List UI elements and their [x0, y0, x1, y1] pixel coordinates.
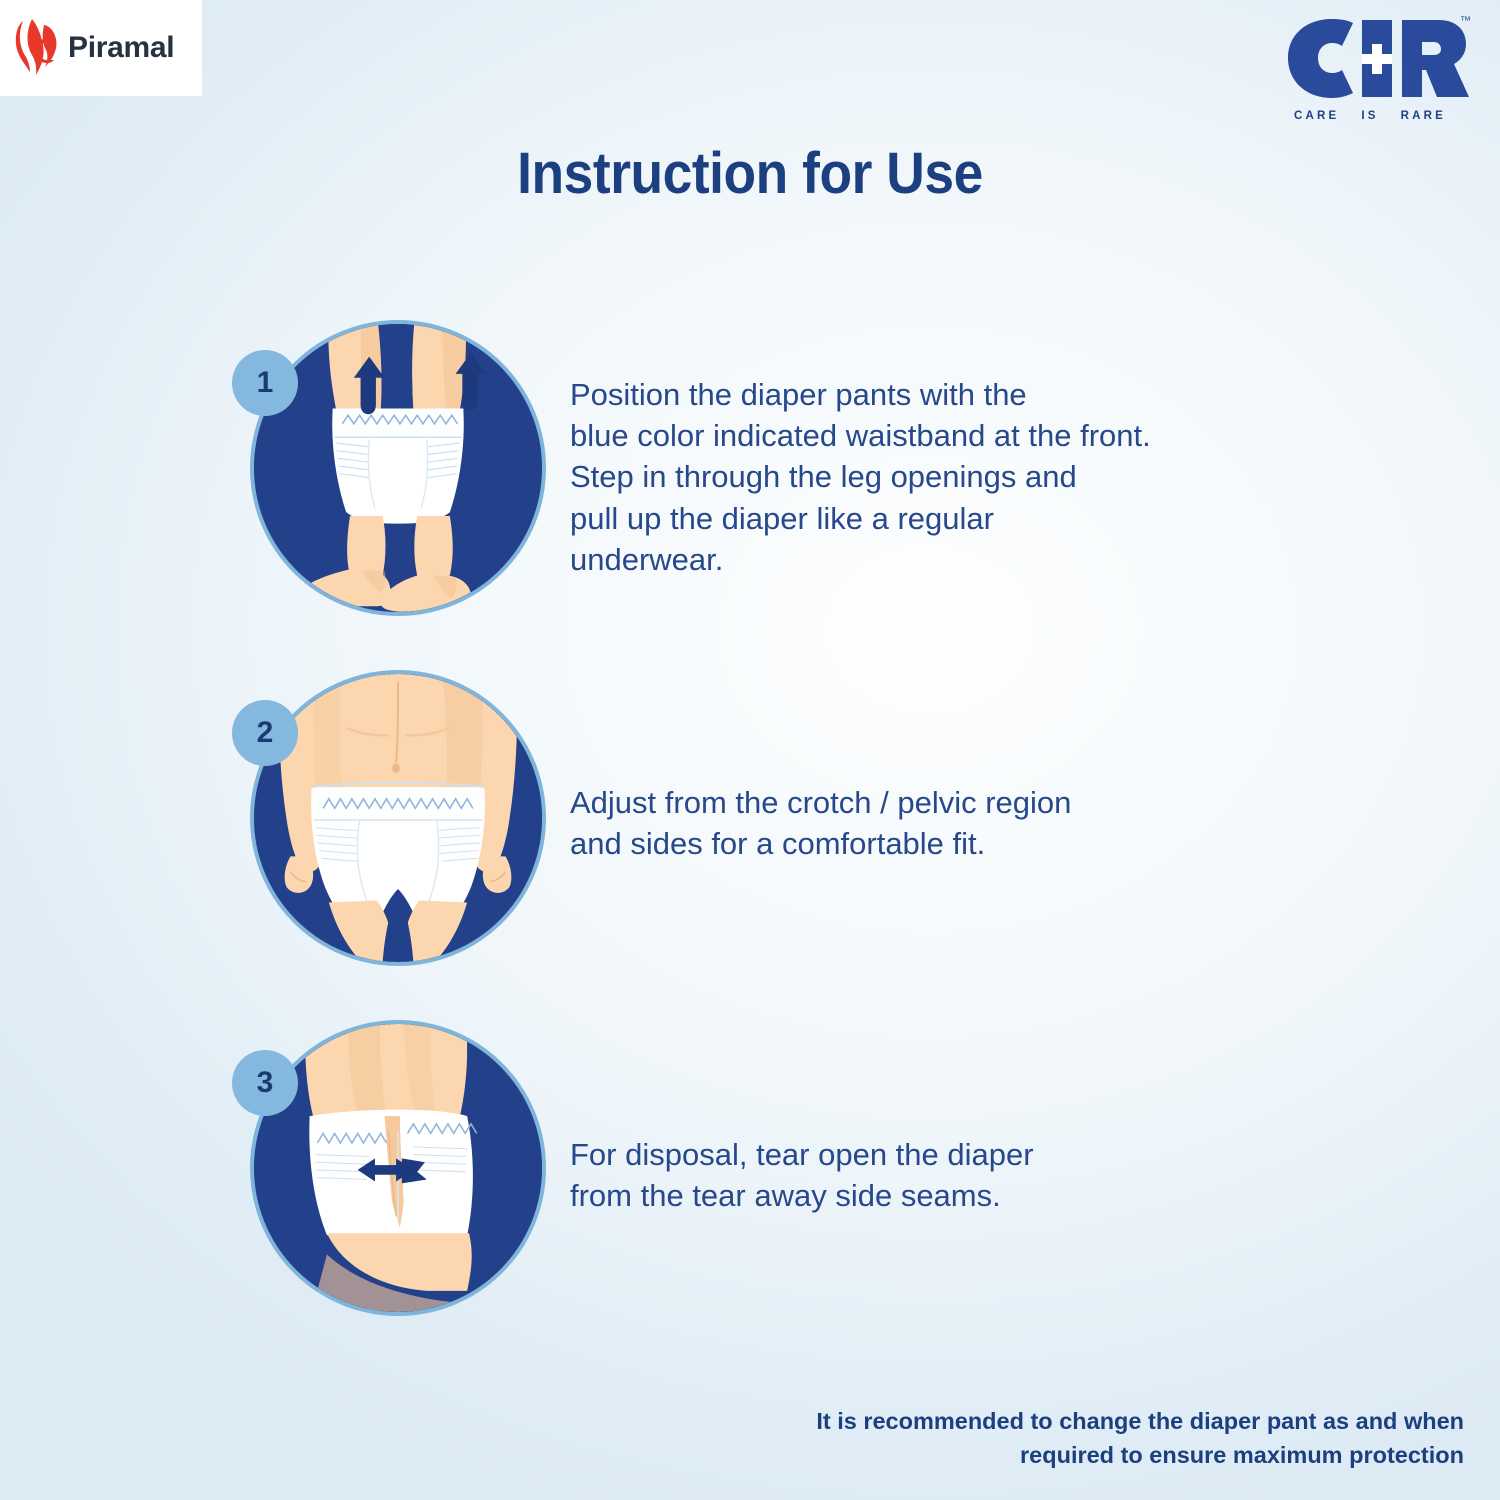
step-3-illustration-wrap: 3 — [222, 1012, 552, 1342]
cir-tagline-word-care: CARE — [1294, 110, 1339, 122]
step-2-illustration — [250, 670, 546, 966]
cir-tagline-word-is: IS — [1361, 110, 1378, 122]
cir-tagline-word-rare: RARE — [1401, 110, 1446, 122]
step-1-illustration — [250, 320, 546, 616]
step-badge-1: 1 — [232, 350, 298, 416]
step-text-1: Position the diaper pants with the blue … — [570, 374, 1500, 580]
step-3-illustration — [250, 1020, 546, 1316]
page-title: Instruction for Use — [60, 140, 1440, 207]
legs-pulling-diaper-icon — [254, 324, 542, 612]
tear-side-seam-icon — [254, 1024, 542, 1312]
step-text-3: For disposal, tear open the diaper from … — [570, 1134, 1500, 1216]
step-text-2: Adjust from the crotch / pelvic region a… — [570, 782, 1500, 864]
step-2-illustration-wrap: 2 — [222, 662, 552, 992]
steps-list: 1 Position the diaper pants with the blu… — [0, 312, 1500, 1362]
footer-note: It is recommended to change the diaper p… — [704, 1405, 1464, 1472]
cir-letters-icon: ™ — [1270, 8, 1470, 108]
step-badge-3: 3 — [232, 1050, 298, 1116]
step-item-3: 3 For disposal, tear open the diaper fro… — [0, 1012, 1500, 1362]
svg-text:™: ™ — [1460, 15, 1470, 27]
piramal-flame-icon — [14, 17, 60, 79]
torso-wearing-diaper-icon — [254, 674, 542, 962]
cir-tagline: CARE IS RARE — [1270, 110, 1470, 122]
step-badge-2: 2 — [232, 700, 298, 766]
step-item-2: 2 Adjust from the crotch / pelvic region… — [0, 662, 1500, 1012]
piramal-wordmark: Piramal — [68, 33, 174, 63]
step-item-1: 1 Position the diaper pants with the blu… — [0, 312, 1500, 662]
piramal-logo: Piramal — [0, 0, 202, 96]
step-1-illustration-wrap: 1 — [222, 312, 552, 642]
cir-logo: ™ CARE IS RARE — [1270, 8, 1470, 138]
